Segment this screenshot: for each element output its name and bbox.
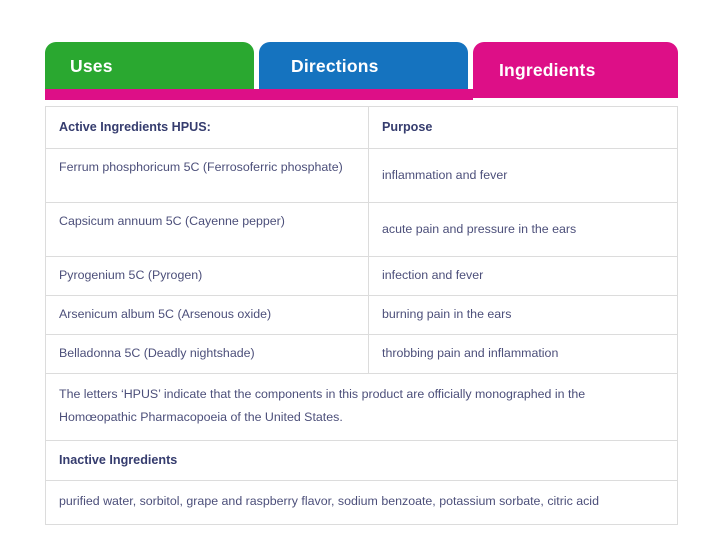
ingredients-table: Active Ingredients HPUS: Purpose Ferrum … bbox=[45, 106, 678, 525]
inactive-ingredients-row: purified water, sorbitol, grape and rasp… bbox=[46, 481, 678, 525]
inactive-ingredients-heading: Inactive Ingredients bbox=[46, 440, 678, 480]
ingredient-purpose: inflammation and fever bbox=[369, 149, 678, 203]
tab-ingredients-label: Ingredients bbox=[499, 60, 596, 81]
table-row: Ferrum phosphoricum 5C (Ferrosoferric ph… bbox=[46, 149, 678, 203]
table-row: Pyrogenium 5C (Pyrogen) infection and fe… bbox=[46, 257, 678, 296]
ingredient-name: Belladonna 5C (Deadly nightshade) bbox=[46, 335, 369, 374]
tab-uses-label: Uses bbox=[70, 56, 113, 77]
ingredient-name: Arsenicum album 5C (Arsenous oxide) bbox=[46, 296, 369, 335]
ingredient-name: Ferrum phosphoricum 5C (Ferrosoferric ph… bbox=[46, 149, 369, 203]
tab-uses[interactable]: Uses bbox=[45, 42, 254, 90]
table-row: Arsenicum album 5C (Arsenous oxide) burn… bbox=[46, 296, 678, 335]
tab-ingredients[interactable]: Ingredients bbox=[473, 42, 678, 98]
tab-directions-label: Directions bbox=[291, 56, 379, 77]
column-header-active-ingredients: Active Ingredients HPUS: bbox=[46, 107, 369, 149]
ingredient-purpose: throbbing pain and inflammation bbox=[369, 335, 678, 374]
hpus-note: The letters ‘HPUS’ indicate that the com… bbox=[46, 374, 678, 441]
ingredient-purpose: burning pain in the ears bbox=[369, 296, 678, 335]
column-header-purpose: Purpose bbox=[369, 107, 678, 149]
hpus-note-row: The letters ‘HPUS’ indicate that the com… bbox=[46, 374, 678, 441]
tab-directions[interactable]: Directions bbox=[259, 42, 468, 90]
ingredient-name: Capsicum annuum 5C (Cayenne pepper) bbox=[46, 203, 369, 257]
table-row: Belladonna 5C (Deadly nightshade) throbb… bbox=[46, 335, 678, 374]
ingredient-purpose: infection and fever bbox=[369, 257, 678, 296]
inactive-ingredients-header-row: Inactive Ingredients bbox=[46, 440, 678, 480]
inactive-ingredients-list: purified water, sorbitol, grape and rasp… bbox=[46, 481, 678, 525]
ingredient-name: Pyrogenium 5C (Pyrogen) bbox=[46, 257, 369, 296]
tab-bar: Ingredients Uses Directions bbox=[45, 42, 678, 103]
table-row: Capsicum annuum 5C (Cayenne pepper) acut… bbox=[46, 203, 678, 257]
table-header-row: Active Ingredients HPUS: Purpose bbox=[46, 107, 678, 149]
active-tab-underline bbox=[45, 89, 473, 100]
drug-facts-panel: Ingredients Uses Directions Active Ingre… bbox=[0, 0, 720, 540]
ingredient-purpose: acute pain and pressure in the ears bbox=[369, 203, 678, 257]
